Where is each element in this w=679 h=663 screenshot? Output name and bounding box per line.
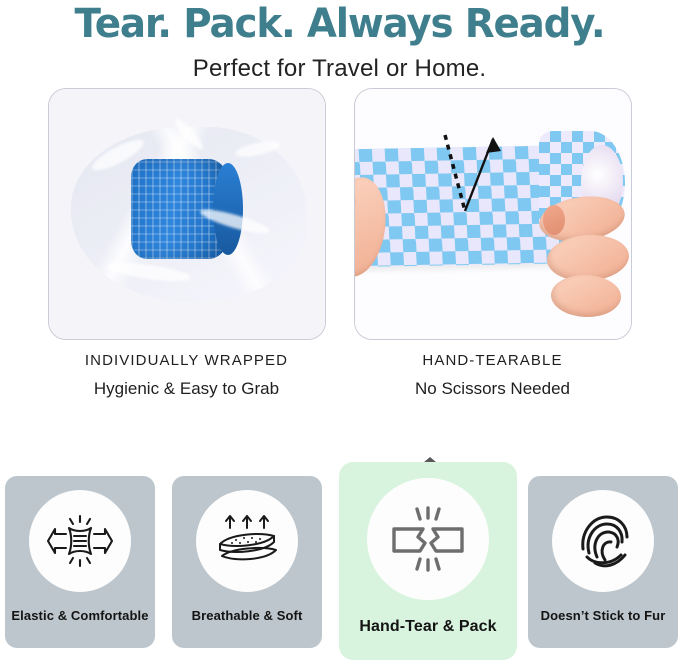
caption-individually-wrapped: INDIVIDUALLY WRAPPED Hygienic & Easy to … [48, 352, 326, 399]
tear-direction-annotation [431, 129, 551, 237]
feature-card-row: Elastic & Comfortable Breathab [0, 455, 679, 663]
page-title: Tear. Pack. Always Ready. [10, 2, 669, 46]
feature-label: Breathable & Soft [192, 608, 303, 623]
feature-label: Hand-Tear & Pack [359, 618, 496, 636]
feature-card-hand-tear[interactable]: Hand-Tear & Pack [339, 462, 517, 660]
feature-label: Elastic & Comfortable [11, 608, 148, 623]
photo-row [0, 88, 679, 346]
caption-hand-tearable: HAND-TEARABLE No Scissors Needed [354, 352, 632, 399]
photo-card-hand-tearable [354, 88, 632, 340]
page-subtitle: Perfect for Travel or Home. [0, 54, 679, 84]
feature-card-breathable[interactable]: Breathable & Soft [172, 476, 322, 648]
icon-circle [552, 490, 654, 592]
feature-label: Doesn’t Stick to Fur [541, 608, 666, 623]
roll-end-face [213, 163, 243, 255]
right-hand-finger [550, 274, 621, 318]
feature-card-no-fur-stick[interactable]: Doesn’t Stick to Fur [528, 476, 678, 648]
stretch-arrows-icon [47, 512, 113, 570]
breathable-fabric-layers-icon [214, 512, 280, 570]
icon-circle [196, 490, 298, 592]
header: Tear. Pack. Always Ready. Perfect for Tr… [0, 0, 679, 84]
hand-tearing-bandage-photo [355, 89, 631, 339]
blue-bandage-roll [131, 159, 235, 259]
caption-title: INDIVIDUALLY WRAPPED [48, 352, 326, 369]
caption-title: HAND-TEARABLE [354, 352, 632, 369]
caption-subtitle: Hygienic & Easy to Grab [48, 379, 326, 399]
icon-circle [29, 490, 131, 592]
icon-circle [367, 478, 489, 600]
caption-subtitle: No Scissors Needed [354, 379, 632, 399]
feature-card-elastic[interactable]: Elastic & Comfortable [5, 476, 155, 648]
photo-card-individually-wrapped [48, 88, 326, 340]
fur-swirl-icon [571, 511, 635, 571]
caption-row: INDIVIDUALLY WRAPPED Hygienic & Easy to … [0, 352, 679, 399]
torn-bandage-icon [389, 505, 467, 573]
wrapped-bandage-roll-photo [49, 89, 325, 339]
